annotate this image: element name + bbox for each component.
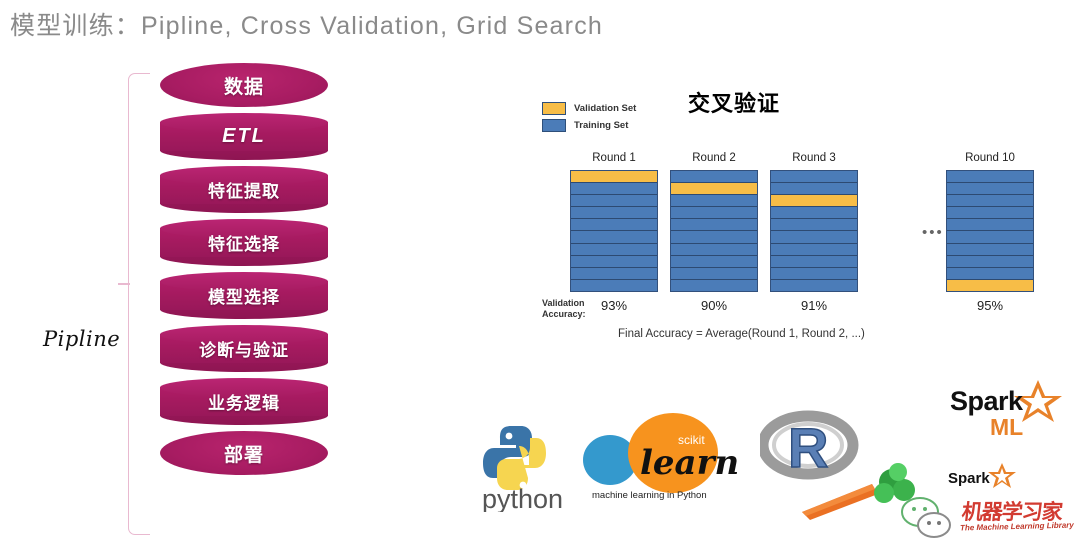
watermark-brand: 机器学习家 — [960, 496, 1063, 526]
stage-label: 模型选择 — [160, 272, 328, 319]
wechat-icon — [898, 494, 958, 544]
python-icon-lower — [497, 438, 546, 490]
legend-item-validation-set: Validation Set — [542, 102, 636, 115]
round-title: Round 2 — [670, 152, 758, 164]
cv-round-column-2[interactable]: Round 2 — [670, 152, 758, 292]
spark-star-icon — [950, 378, 1065, 443]
spark-star-icon-small — [948, 462, 1018, 497]
carrot-icon-leaf — [874, 483, 894, 503]
wechat-icon-eye — [912, 507, 916, 511]
fold-training — [671, 244, 757, 256]
fold-training — [771, 207, 857, 219]
r-icon-letter: R — [788, 416, 828, 479]
fold-validation — [947, 280, 1033, 291]
python-logo: python — [478, 420, 578, 512]
cv-round-column-10[interactable]: Round 10 — [946, 152, 1034, 292]
fold-training — [571, 195, 657, 207]
accuracy-value-round-10: 95% — [946, 298, 1034, 313]
fold-validation — [571, 171, 657, 183]
pipeline-stage-etl[interactable]: ETL — [160, 113, 328, 160]
accuracy-value-round-3: 91% — [770, 298, 858, 313]
sklearn-icon: scikit learn — [580, 408, 745, 513]
python-icon-eye-lower — [520, 482, 527, 489]
pipeline-bracket-notch — [118, 283, 130, 285]
fold-training — [671, 171, 757, 183]
fold-training — [571, 280, 657, 291]
wechat-icon-bubble-back — [902, 498, 938, 526]
fold-training — [947, 231, 1033, 243]
fold-stack — [946, 170, 1034, 292]
r-icon: R — [760, 405, 860, 490]
fold-training — [771, 183, 857, 195]
python-icon-eye-upper — [506, 433, 513, 440]
pipeline-stage-feature-extraction[interactable]: 特征提取 — [160, 166, 328, 213]
carrot-icon-leaf — [879, 469, 905, 495]
sklearn-orange-blob — [628, 413, 718, 493]
fold-training — [571, 231, 657, 243]
python-icon: python — [478, 420, 578, 512]
fold-training — [771, 280, 857, 291]
spark-star-shape — [1014, 380, 1062, 422]
spark-wordmark: Spark — [950, 386, 1023, 417]
fold-training — [671, 195, 757, 207]
cv-ellipsis: ••• — [922, 224, 944, 241]
fold-training — [947, 256, 1033, 268]
sklearn-tagline: machine learning in Python — [592, 490, 707, 501]
pipeline-stage-deployment[interactable]: 部署 — [160, 431, 328, 475]
sklearn-blue-blob — [583, 435, 637, 485]
legend-label: Validation Set — [574, 103, 636, 114]
python-wordmark: python — [482, 484, 563, 512]
stage-label: 部署 — [160, 431, 328, 475]
stage-label: 数据 — [160, 63, 328, 107]
fold-training — [771, 256, 857, 268]
sklearn-word-scikit: scikit — [678, 433, 705, 447]
fold-training — [947, 207, 1033, 219]
fold-stack — [670, 170, 758, 292]
legend-swatch-training — [542, 119, 566, 132]
fold-training — [947, 244, 1033, 256]
caret-logo — [800, 460, 930, 530]
legend-label: Training Set — [574, 120, 628, 131]
fold-training — [947, 219, 1033, 231]
fold-training — [947, 183, 1033, 195]
fold-training — [571, 219, 657, 231]
fold-training — [571, 244, 657, 256]
r-logo: R — [760, 405, 860, 490]
fold-training — [947, 171, 1033, 183]
fold-training — [671, 268, 757, 280]
fold-training — [671, 280, 757, 291]
spark-logo-small: Spark — [948, 462, 1018, 497]
carrot-icon-leaf — [889, 463, 907, 481]
fold-training — [771, 231, 857, 243]
fold-training — [947, 268, 1033, 280]
carrot-icon — [800, 460, 930, 530]
pipeline-stage-data[interactable]: 数据 — [160, 63, 328, 107]
cross-validation-title: 交叉验证 — [688, 86, 780, 118]
stage-label: 业务逻辑 — [160, 378, 328, 425]
fold-stack — [570, 170, 658, 292]
accuracy-value-round-1: 93% — [570, 298, 658, 313]
fold-validation — [771, 195, 857, 207]
round-title: Round 3 — [770, 152, 858, 164]
fold-training — [771, 244, 857, 256]
round-title: Round 1 — [570, 152, 658, 164]
spark-star-shape-small — [988, 463, 1016, 488]
stage-label: ETL — [160, 113, 328, 160]
spark-ml-logo: Spark ML — [950, 378, 1065, 443]
watermark-tagline: The Machine Learning Library — [960, 521, 1074, 533]
cv-rounds-group: Round 1 Round 2 — [570, 152, 1020, 292]
pipeline-bracket — [128, 73, 150, 535]
pipeline-panel: Pipline 数据 ETL 特征提取 特征选择 — [0, 55, 400, 555]
final-accuracy-formula: Final Accuracy = Average(Round 1, Round … — [618, 328, 865, 340]
wechat-icon-eye — [923, 507, 927, 511]
cv-round-column-1[interactable]: Round 1 — [570, 152, 658, 292]
legend-item-training-set: Training Set — [542, 119, 636, 132]
fold-training — [771, 219, 857, 231]
pipeline-stage-feature-selection[interactable]: 特征选择 — [160, 219, 328, 266]
cv-legend: Validation Set Training Set — [542, 102, 636, 136]
legend-swatch-validation — [542, 102, 566, 115]
pipeline-stage-diagnosis-validation[interactable]: 诊断与验证 — [160, 325, 328, 372]
stage-label: 特征提取 — [160, 166, 328, 213]
watermark: 机器学习家 The Machine Learning Library — [898, 492, 1078, 547]
fold-training — [671, 256, 757, 268]
fold-validation — [671, 183, 757, 195]
python-icon-upper — [483, 426, 532, 478]
fold-training — [947, 195, 1033, 207]
page-title: 模型训练：Pipline, Cross Validation, Grid Sea… — [10, 6, 603, 42]
accuracy-value-round-2: 90% — [670, 298, 758, 313]
carrot-icon-root-light — [802, 484, 875, 516]
r-icon-ring-outer — [763, 416, 853, 474]
cross-validation-panel: 交叉验证 Validation Set Training Set Round 1 — [520, 70, 1020, 360]
cv-round-column-3[interactable]: Round 3 — [770, 152, 858, 292]
fold-training — [671, 231, 757, 243]
pipeline-stage-list: 数据 ETL 特征提取 特征选择 模型选择 — [160, 63, 335, 481]
sklearn-word-learn: learn — [640, 443, 739, 483]
spark-star-inner-small — [994, 468, 1010, 484]
stage-label: 特征选择 — [160, 219, 328, 266]
fold-training — [571, 207, 657, 219]
spark-star-inner — [1023, 388, 1053, 415]
fold-training — [771, 171, 857, 183]
stage-label: 诊断与验证 — [160, 325, 328, 372]
wechat-icon-bubble-front — [918, 513, 950, 537]
fold-training — [571, 183, 657, 195]
carrot-icon-root — [802, 484, 878, 520]
pipeline-bracket-label: Pipline — [43, 327, 120, 351]
round-title: Round 10 — [946, 152, 1034, 164]
r-icon-ring-inner — [774, 424, 842, 466]
fold-stack — [770, 170, 858, 292]
pipeline-stage-business-logic[interactable]: 业务逻辑 — [160, 378, 328, 425]
sklearn-logo: scikit learn machine learning in Python — [580, 408, 745, 513]
fold-training — [671, 219, 757, 231]
fold-training — [571, 268, 657, 280]
fold-training — [671, 207, 757, 219]
spark-ml-subword: ML — [990, 414, 1023, 441]
wechat-icon-eye — [927, 521, 931, 525]
wechat-icon-eye — [937, 521, 941, 525]
carrot-icon-leaf — [893, 479, 915, 501]
pipeline-stage-model-selection[interactable]: 模型选择 — [160, 272, 328, 319]
fold-training — [771, 268, 857, 280]
spark-wordmark-small: Spark — [948, 470, 990, 487]
fold-training — [571, 256, 657, 268]
